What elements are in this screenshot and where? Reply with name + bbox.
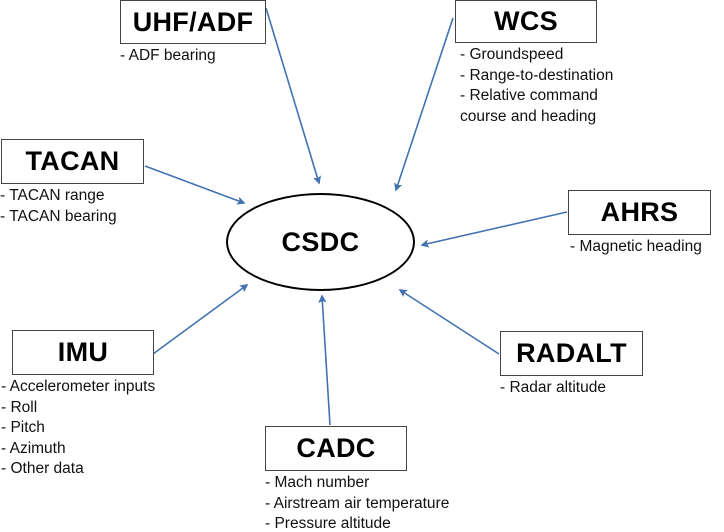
connector-ahrs-to-csdc [422, 212, 567, 245]
connector-imu-to-csdc [153, 285, 247, 354]
node-imu-details: - Accelerometer inputs - Roll - Pitch - … [1, 377, 154, 480]
detail-line: - Pressure altitude [265, 514, 407, 532]
node-uhfadf-label: UHF/ADF [133, 9, 254, 36]
node-imu-box[interactable]: IMU [12, 330, 154, 375]
node-cadc-box[interactable]: CADC [265, 426, 407, 471]
node-uhfadf-details: - ADF bearing [120, 46, 266, 67]
node-cadc-details: - Mach number - Airstream air temperatur… [265, 473, 407, 532]
node-radalt-details: - Radar altitude [500, 378, 643, 399]
detail-line: - Groundspeed [460, 45, 597, 66]
hub-csdc-label: CSDC [281, 227, 359, 258]
detail-line: - Azimuth [1, 439, 154, 460]
node-wcs-details: - Groundspeed - Range-to-destination - R… [460, 45, 597, 127]
detail-line: - Magnetic heading [570, 237, 711, 258]
detail-line: - Airstream air temperature [265, 494, 407, 515]
node-wcs-label: WCS [494, 8, 558, 35]
connector-tacan-to-csdc [145, 166, 244, 203]
node-tacan-details: - TACAN range - TACAN bearing [0, 186, 144, 227]
node-ahrs-box[interactable]: AHRS [568, 190, 711, 235]
detail-line: - Radar altitude [500, 378, 643, 399]
node-tacan-box[interactable]: TACAN [1, 139, 144, 184]
node-wcs[interactable]: WCS - Groundspeed - Range-to-destination… [455, 0, 597, 127]
detail-line: - TACAN range [0, 186, 144, 207]
connector-wcs-to-csdc [396, 18, 453, 190]
detail-line: - Roll [1, 398, 154, 419]
detail-line: course and heading [460, 107, 597, 128]
node-ahrs-details: - Magnetic heading [570, 237, 711, 258]
detail-line: - Relative command [460, 86, 597, 107]
node-tacan[interactable]: TACAN - TACAN range - TACAN bearing [1, 139, 144, 227]
hub-csdc[interactable]: CSDC [226, 193, 415, 291]
node-radalt-label: RADALT [516, 340, 627, 367]
node-cadc-label: CADC [296, 435, 375, 462]
node-cadc[interactable]: CADC - Mach number - Airstream air tempe… [265, 426, 407, 532]
detail-line: - Other data [1, 459, 154, 480]
detail-line: - ADF bearing [120, 46, 266, 67]
node-radalt-box[interactable]: RADALT [500, 331, 643, 376]
detail-line: - Pitch [1, 418, 154, 439]
diagram-canvas: UHF/ADF - ADF bearing WCS - Groundspeed … [0, 0, 724, 532]
node-imu-label: IMU [58, 339, 108, 366]
detail-line: - TACAN bearing [0, 207, 144, 228]
node-wcs-box[interactable]: WCS [455, 0, 597, 43]
node-ahrs[interactable]: AHRS - Magnetic heading [568, 190, 711, 258]
node-imu[interactable]: IMU - Accelerometer inputs - Roll - Pitc… [12, 330, 154, 480]
node-uhfadf-box[interactable]: UHF/ADF [120, 0, 266, 44]
detail-line: - Range-to-destination [460, 66, 597, 87]
detail-line: - Accelerometer inputs [1, 377, 154, 398]
detail-line: - Mach number [265, 473, 407, 494]
node-radalt[interactable]: RADALT - Radar altitude [500, 331, 643, 399]
connector-radalt-to-csdc [400, 290, 499, 354]
connector-cadc-to-csdc [322, 296, 330, 425]
node-ahrs-label: AHRS [601, 199, 679, 226]
node-uhfadf[interactable]: UHF/ADF - ADF bearing [120, 0, 266, 67]
connector-uhfadf-to-csdc [266, 8, 319, 183]
node-tacan-label: TACAN [26, 148, 120, 175]
